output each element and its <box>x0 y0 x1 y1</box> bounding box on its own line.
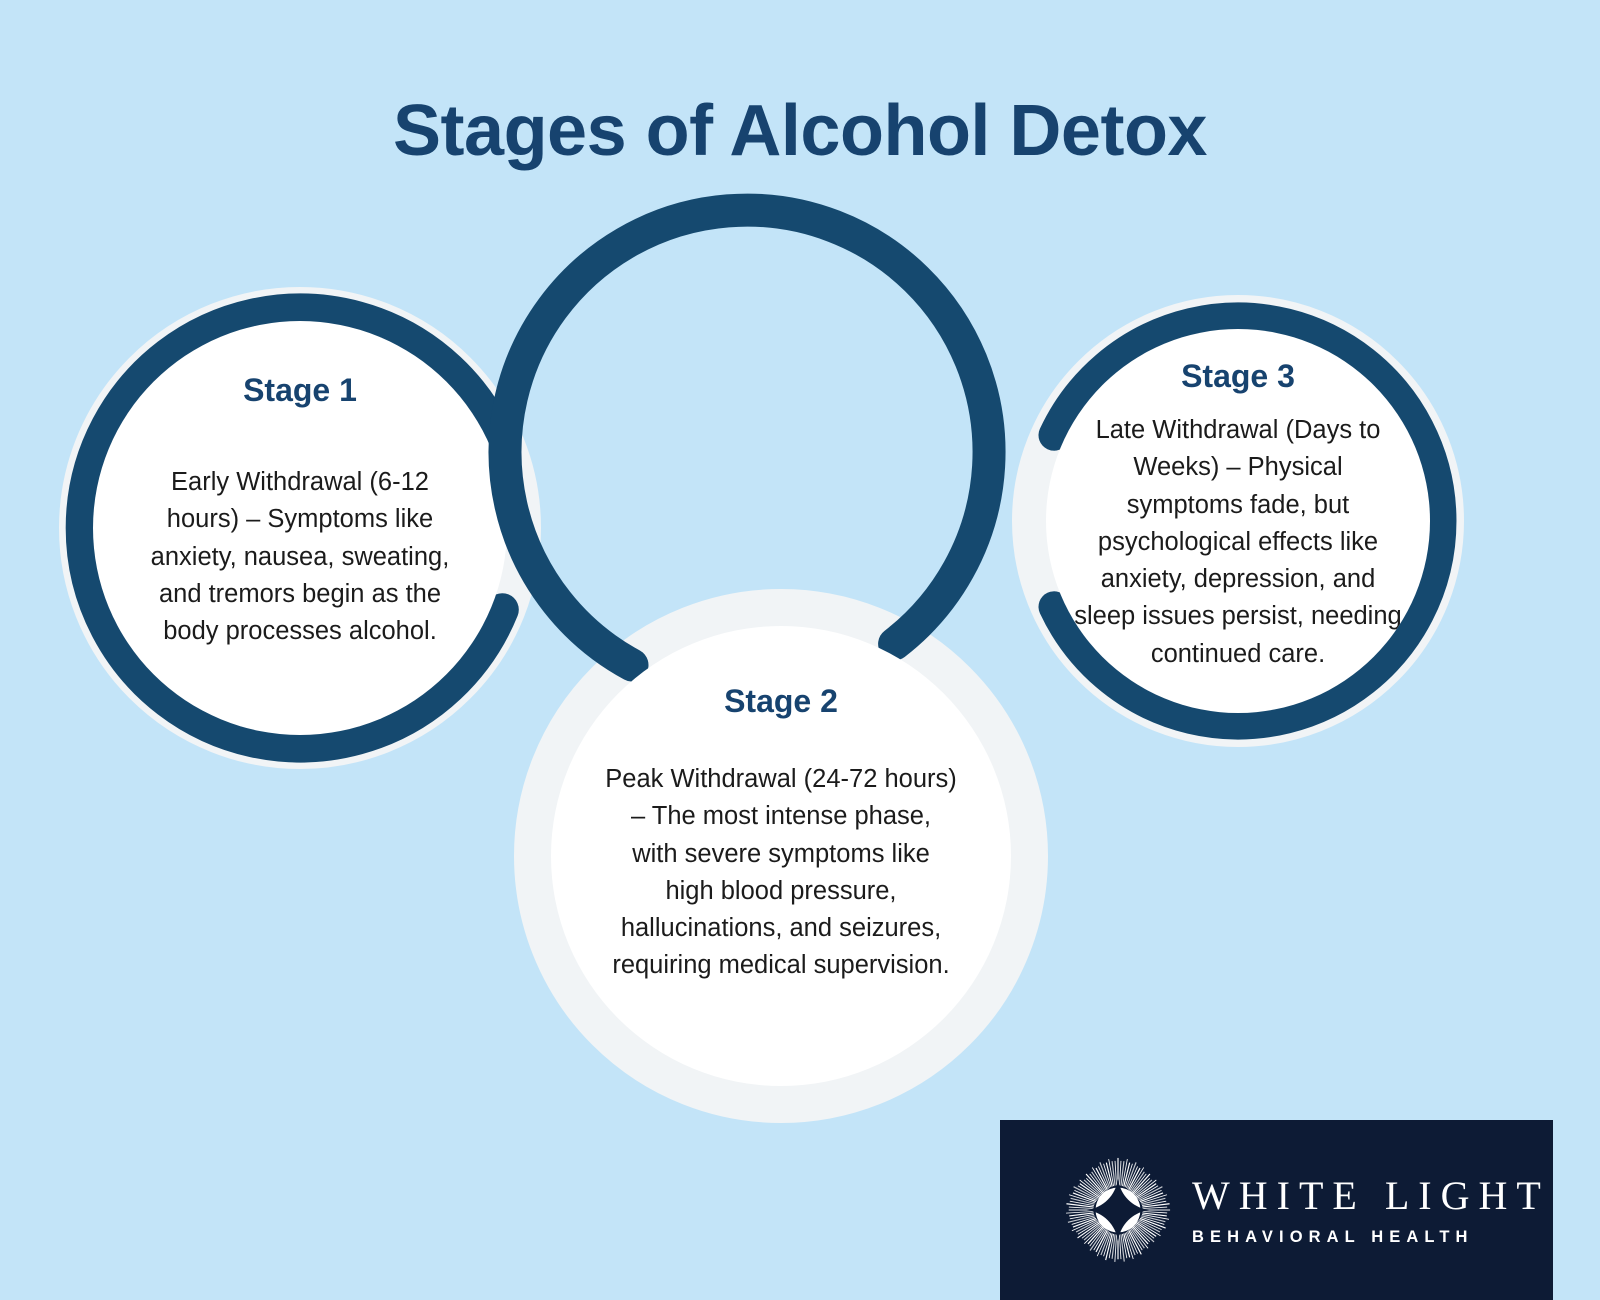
stage-3-label: Stage 3 <box>1181 359 1295 394</box>
stage-card-1: Stage 1 Early Withdrawal (6-12 hours) – … <box>57 285 543 771</box>
starburst-icon <box>1062 1154 1174 1266</box>
stage-2-description: Peak Withdrawal (24-72 hours) – The most… <box>605 761 957 984</box>
infographic-canvas: Stages of Alcohol Detox Stage 1 Early Wi… <box>0 0 1600 1300</box>
stage-1-content: Stage 1 Early Withdrawal (6-12 hours) – … <box>93 321 507 735</box>
stage-1-label: Stage 1 <box>243 373 357 408</box>
stage-card-3: Stage 3 Late Withdrawal (Days to Weeks) … <box>1012 295 1464 747</box>
page-title: Stages of Alcohol Detox <box>0 94 1600 170</box>
stage-2-content: Stage 2 Peak Withdrawal (24-72 hours) – … <box>551 626 1011 1086</box>
stage-1-description: Early Withdrawal (6-12 hours) – Symptoms… <box>137 464 463 650</box>
stage-2-label: Stage 2 <box>724 684 838 719</box>
stage-3-content: Stage 3 Late Withdrawal (Days to Weeks) … <box>1046 329 1430 713</box>
brand-name: WHITE LIGHT <box>1192 1176 1550 1216</box>
brand-tagline: BEHAVIORAL HEALTH <box>1192 1229 1550 1246</box>
brand-logo-text: WHITE LIGHT BEHAVIORAL HEALTH <box>1192 1174 1550 1246</box>
stage-3-description: Late Withdrawal (Days to Weeks) – Physic… <box>1072 412 1404 673</box>
stage-card-2: Stage 2 Peak Withdrawal (24-72 hours) – … <box>513 588 1049 1124</box>
brand-logo-block: WHITE LIGHT BEHAVIORAL HEALTH <box>1000 1120 1553 1300</box>
